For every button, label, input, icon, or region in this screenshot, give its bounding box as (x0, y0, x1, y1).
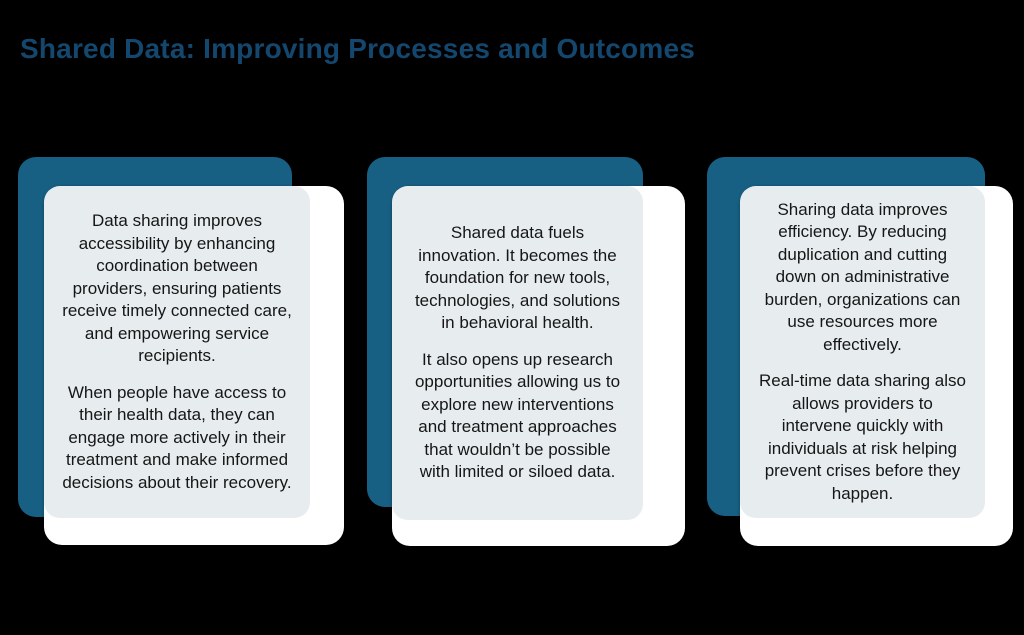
card-paragraph: When people have access to their health … (60, 382, 294, 495)
card-content-panel-3: Sharing data improves efficiency. By red… (740, 186, 985, 518)
card-paragraph: It also opens up research opportunities … (408, 349, 627, 484)
card-paragraph: Data sharing improves accessibility by e… (60, 210, 294, 368)
card-paragraph: Shared data fuels innovation. It becomes… (408, 222, 627, 335)
card-content-panel-1: Data sharing improves accessibility by e… (44, 186, 310, 518)
card-content-panel-2: Shared data fuels innovation. It becomes… (392, 186, 643, 520)
card-paragraph: Real-time data sharing also allows provi… (756, 370, 969, 505)
card-deck: Data sharing improves accessibility by e… (0, 0, 1024, 635)
card-paragraph: Sharing data improves efficiency. By red… (756, 199, 969, 357)
